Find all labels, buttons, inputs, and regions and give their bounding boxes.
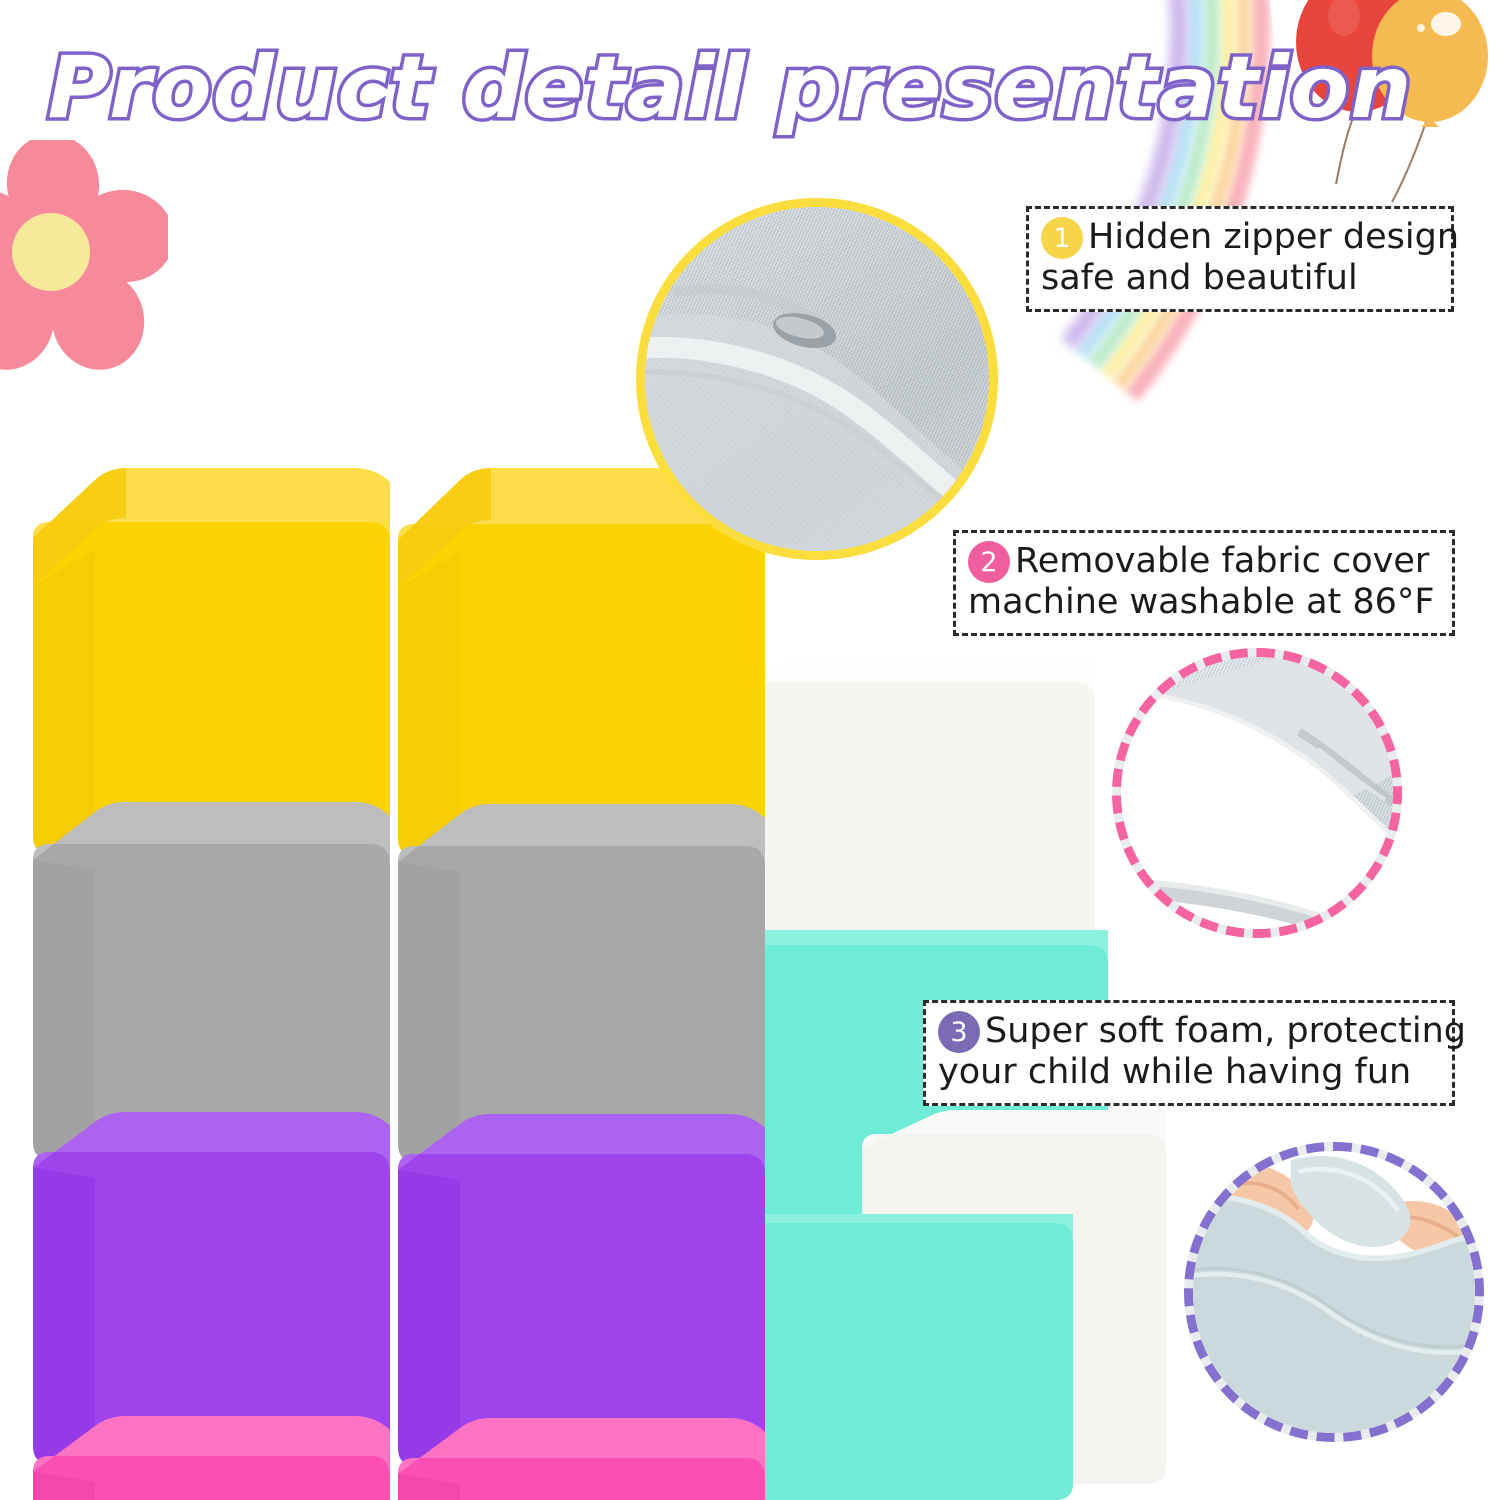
feature-callout-3: 3 Super soft foam, protecting your child… — [923, 1000, 1455, 1106]
feature-2-line-2: machine washable at 86°F — [968, 583, 1440, 623]
gray-block-left — [33, 802, 390, 1160]
badge-number-1: 1 — [1041, 217, 1083, 259]
hidden-zipper-photo — [636, 198, 998, 560]
feature-callout-2: 2 Removable fabric cover machine washabl… — [953, 530, 1455, 636]
removable-cover-photo — [1112, 648, 1402, 938]
feature-1-line-1: Hidden zipper design — [1088, 218, 1459, 258]
product-detail-infographic: Product detail presentation — [0, 0, 1500, 1500]
gray-block-right — [398, 804, 765, 1162]
yellow-block-top-left — [33, 468, 390, 854]
soft-foam-photo — [1184, 1142, 1484, 1442]
badge-number-2: 2 — [968, 541, 1010, 583]
badge-number-3: 3 — [938, 1011, 980, 1053]
feature-3-line-2: your child while having fun — [938, 1053, 1440, 1093]
feature-callout-1: 1 Hidden zipper design safe and beautifu… — [1026, 206, 1454, 312]
feature-1-line-2: safe and beautiful — [1041, 259, 1439, 299]
purple-block-left — [33, 1112, 390, 1464]
purple-block-right — [398, 1114, 765, 1466]
feature-3-line-1: Super soft foam, protecting — [985, 1012, 1466, 1052]
flower-icon — [0, 140, 168, 370]
page-title: Product detail presentation — [0, 38, 1460, 138]
feature-2-line-1: Removable fabric cover — [1015, 542, 1429, 582]
